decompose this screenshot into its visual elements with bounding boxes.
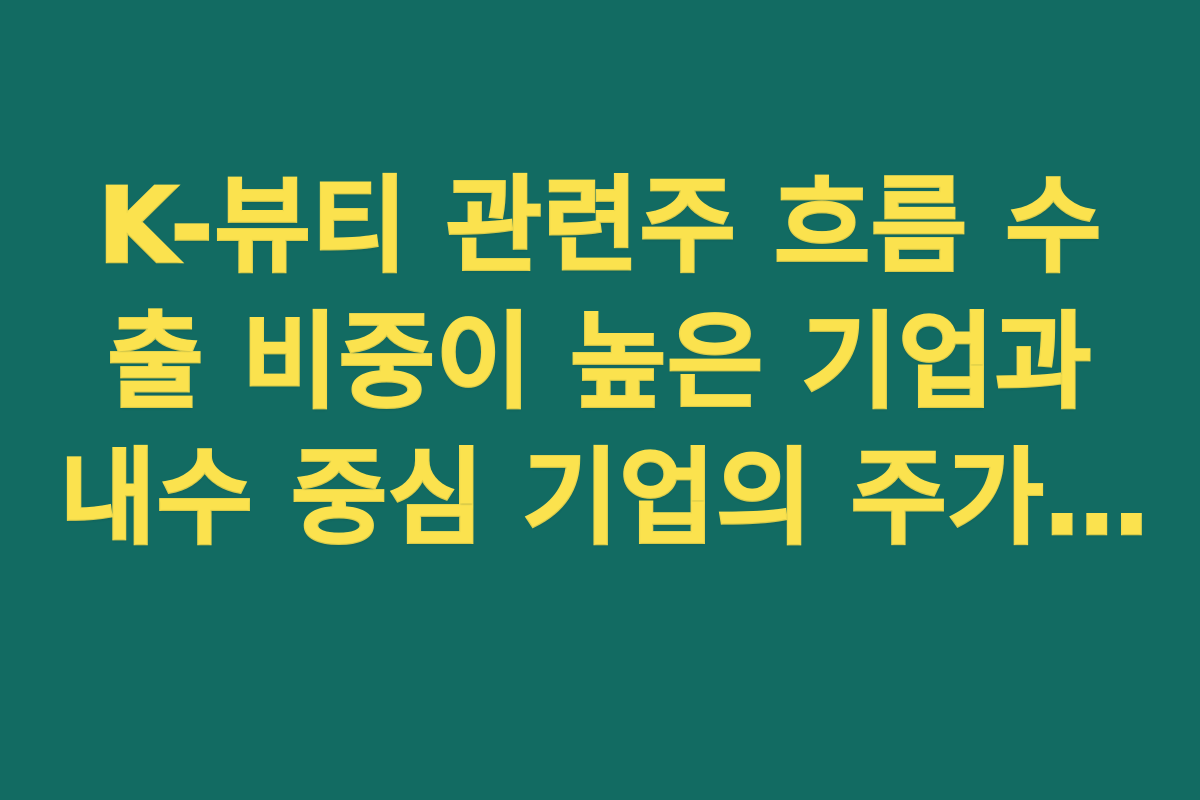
headline-line-1: K-뷰티 관련주 흐름 수 [60, 158, 1140, 294]
headline-text-block: K-뷰티 관련주 흐름 수 출 비중이 높은 기업과 내수 중심 기업의 주가… [60, 158, 1140, 566]
headline-line-2: 출 비중이 높은 기업과 [60, 294, 1140, 430]
headline-line-3: 내수 중심 기업의 주가… [60, 430, 1140, 566]
headline-thumbnail-card: K-뷰티 관련주 흐름 수 출 비중이 높은 기업과 내수 중심 기업의 주가… [0, 0, 1200, 800]
